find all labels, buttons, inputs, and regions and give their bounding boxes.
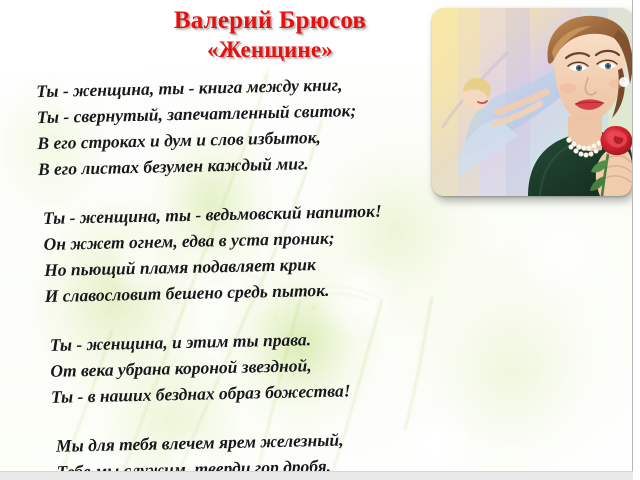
- woman-with-rose-illustration: [432, 8, 632, 196]
- slide-title: Валерий Брюсов «Женщине»: [120, 6, 420, 64]
- poem-body: Ты - женщина, ты - книга между книг, Ты …: [0, 70, 439, 480]
- poem-stanza: Ты - женщина, ты - ведьмовский напиток! …: [3, 197, 435, 310]
- poem-stanza: Ты - женщина, ты - книга между книг, Ты …: [0, 70, 432, 183]
- poem-author: Валерий Брюсов: [120, 6, 420, 36]
- poem-title: «Женщине»: [120, 36, 420, 64]
- poem-stanza: Ты - женщина, и этим ты права. От века у…: [6, 323, 438, 410]
- slide-bottom-band: [0, 472, 633, 480]
- slide-right-border: [632, 0, 633, 480]
- presentation-slide: Валерий Брюсов «Женщине» Ты - женщина, т…: [0, 0, 640, 480]
- illustration-frame: [432, 8, 632, 196]
- slide-right-margin: [633, 0, 640, 480]
